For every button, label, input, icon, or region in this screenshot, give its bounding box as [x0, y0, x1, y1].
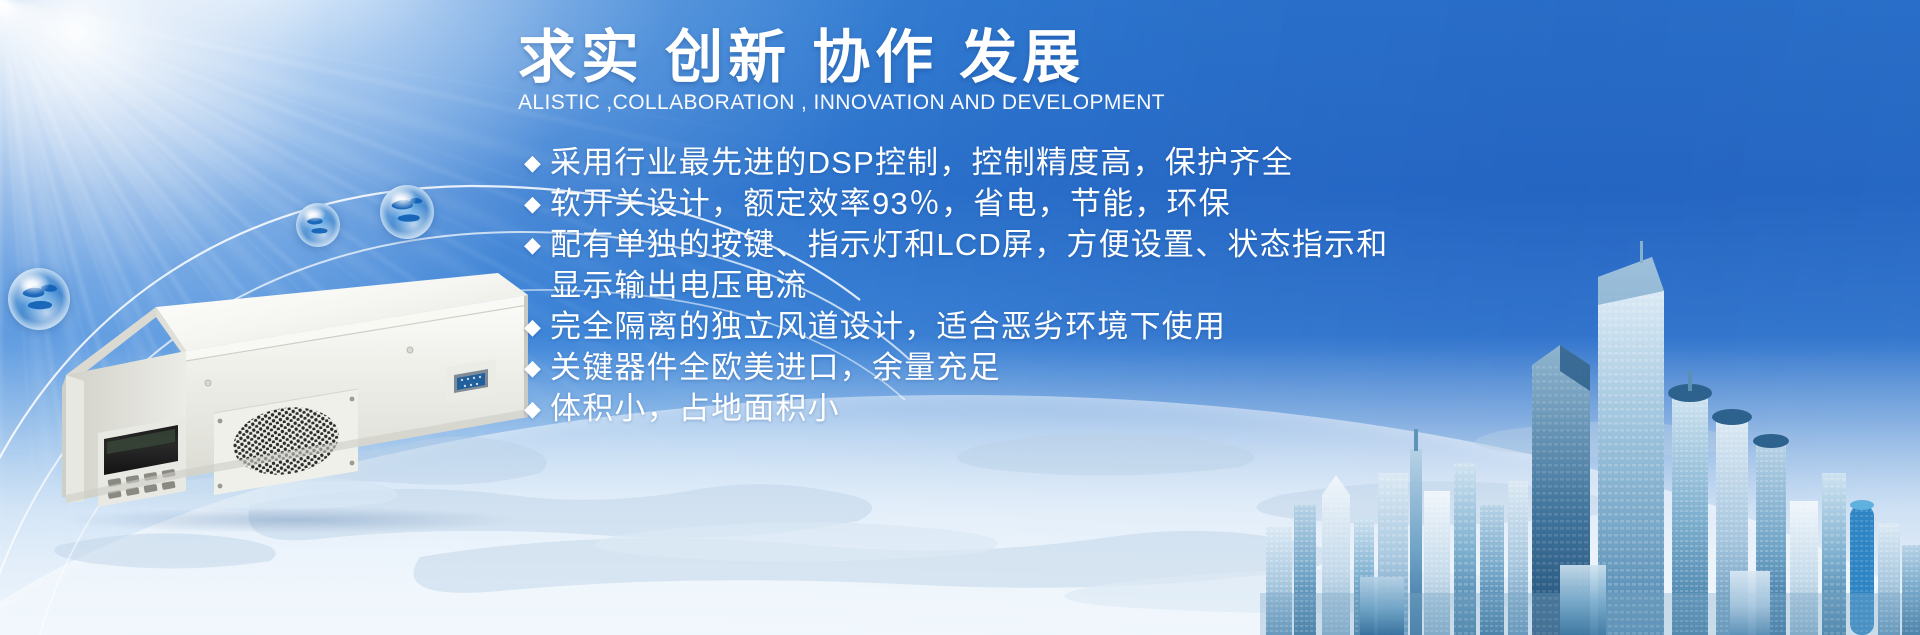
feature-list-item: ◆关键器件全欧美进口，余量充足	[524, 347, 1864, 388]
feature-list-item-label: 体积小，占地面积小	[550, 388, 840, 429]
feature-list-item-label: 显示输出电压电流	[550, 265, 808, 306]
diamond-bullet-icon: ◆	[524, 183, 550, 224]
page-subtitle: ALISTIC ,COLLABORATION , INNOVATION AND …	[518, 91, 1165, 115]
promotional-banner: 求实 创新 协作 发展 ALISTIC ,COLLABORATION , INN…	[0, 0, 1920, 635]
feature-list-item: ◆体积小，占地面积小	[524, 388, 1864, 429]
feature-list-item: ◆完全隔离的独立风道设计，适合恶劣环境下使用	[524, 306, 1864, 347]
diamond-bullet-icon: ◆	[524, 142, 550, 183]
feature-list-item-label: 软开关设计，额定效率93％，省电，节能，环保	[550, 183, 1231, 224]
feature-list-item-label: 关键器件全欧美进口，余量充足	[550, 347, 1001, 388]
feature-list: ◆采用行业最先进的DSP控制，控制精度高，保护齐全◆软开关设计，额定效率93％，…	[524, 142, 1864, 429]
feature-list-item: ◆配有单独的按键、指示灯和LCD屏，方便设置、状态指示和	[524, 224, 1864, 265]
diamond-bullet-icon: ◆	[524, 224, 550, 265]
feature-list-item-label: 完全隔离的独立风道设计，适合恶劣环境下使用	[550, 306, 1226, 347]
diamond-bullet-icon: ◆	[524, 306, 550, 347]
feature-list-item: ◆显示输出电压电流	[524, 265, 1864, 306]
feature-list-item: ◆采用行业最先进的DSP控制，控制精度高，保护齐全	[524, 142, 1864, 183]
banner-text-content: 求实 创新 协作 发展 ALISTIC ,COLLABORATION , INN…	[0, 0, 1920, 635]
feature-list-item-label: 配有单独的按键、指示灯和LCD屏，方便设置、状态指示和	[550, 224, 1388, 265]
feature-list-item-label: 采用行业最先进的DSP控制，控制精度高，保护齐全	[550, 142, 1294, 183]
diamond-bullet-icon: ◆	[524, 388, 550, 429]
page-title: 求实 创新 协作 发展	[518, 28, 1085, 89]
diamond-bullet-icon: ◆	[524, 347, 550, 388]
feature-list-item: ◆软开关设计，额定效率93％，省电，节能，环保	[524, 183, 1864, 224]
